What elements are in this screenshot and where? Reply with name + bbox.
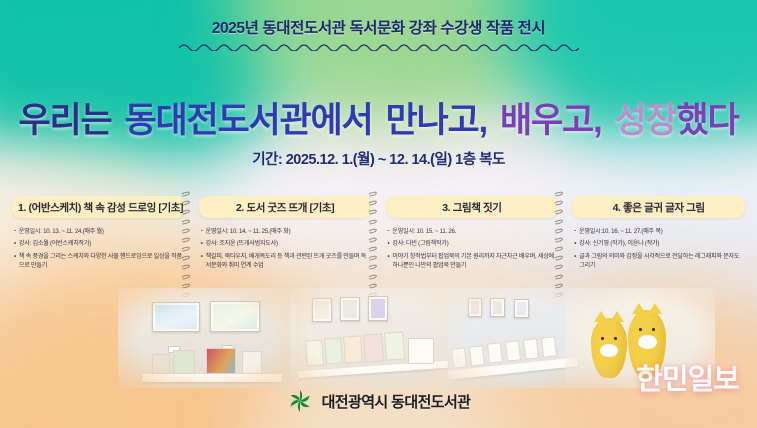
line-marker: • (14, 252, 16, 261)
course-card-title: 1. (어반스케치) 책 속 감성 드로잉 [기초] (12, 196, 185, 218)
course-card: 4. 좋은 글귀 글자 그림 - 운영일시:10. 16. ~ 11. 27.(… (568, 196, 749, 274)
line-text: 운영일시: 10. 13. ~ 11. 24.(매주 월) (19, 227, 183, 236)
line-text: 강사: 신기영 (작가), 이윤나 (작가) (579, 239, 743, 248)
course-card-list: 1. (어반스케치) 책 속 감성 드로잉 [기초] - 운영일시: 10. 1… (8, 196, 749, 274)
ribbon-title: 2025년 동대전도서관 독서문화 강좌 수강생 작품 전시 (212, 16, 546, 38)
course-detail-line: • 이야기 창작법부터 팝업북의 기본 원리까지 차근차근 배우며, 세상에 하… (388, 252, 557, 271)
wave-divider-icon (179, 41, 579, 51)
line-text: 강사: 김소월 (어반스케치작가) (19, 239, 183, 248)
headline-part-3: 만나고, (385, 101, 487, 140)
line-marker: • (201, 239, 203, 248)
line-text: 책갈피, 북타우지, 베개목도리 등 책과 관련된 뜨개 굿즈를 만들며 독서문… (206, 252, 370, 271)
line-marker: • (201, 252, 203, 261)
course-detail-line: - 운영일시: 10. 14. ~ 11. 25.(매주 화) (201, 227, 370, 236)
course-detail-line: • 강사: 다빈 (그림책작가) (388, 239, 557, 248)
exhibition-poster: 2025년 동대전도서관 독서문화 강좌 수강생 작품 전시 우리는동대전도서관… (0, 0, 757, 428)
line-marker: • (388, 239, 390, 248)
line-text: 운영일시:10. 16. ~ 11. 27.(매주 목) (579, 227, 743, 236)
line-marker: - (14, 227, 16, 236)
course-card: 1. (어반스케치) 책 속 감성 드로잉 [기초] - 운영일시: 10. 1… (8, 196, 189, 274)
headline-part-2: 동대전도서관에서 (124, 101, 372, 140)
course-detail-line: • 책갈피, 북타우지, 베개목도리 등 책과 관련된 뜨개 굿즈를 만들며 독… (201, 252, 370, 271)
headline-part-5: 성장 (615, 101, 677, 140)
headline-part-6: 했다 (677, 101, 739, 140)
line-text: 운영일시: 10. 15. ~ 11. 26. (392, 227, 556, 236)
spiral-binding-icon (554, 192, 565, 297)
course-card-body: - 운영일시: 10. 15. ~ 11. 26. • 강사: 다빈 (그림책작… (386, 227, 559, 271)
line-marker: - (574, 227, 576, 236)
course-detail-line: • 글과 그림의 의미와 감정을 시각적으로 전달하는 레그래피와 문자도 그리… (574, 252, 743, 271)
course-detail-line: - 운영일시: 10. 13. ~ 11. 24.(매주 월) (14, 227, 183, 236)
period-line: 기간: 2025.12. 1.(월) ~ 12. 14.(일) 1층 복도 (0, 148, 757, 169)
course-detail-line: • 강사: 조지윤 (뜨개사범지도사) (201, 239, 370, 248)
course-card-title: 3. 그림책 짓기 (386, 196, 559, 218)
course-card-body: - 운영일시:10. 16. ~ 11. 27.(매주 목) • 강사: 신기영… (572, 227, 745, 271)
spiral-binding-icon (368, 192, 379, 297)
course-card-title: 2. 도서 굿즈 뜨개 [기초] (199, 196, 372, 218)
line-text: 이야기 창작법부터 팝업북의 기본 원리까지 차근차근 배우며, 세상에 하나뿐… (392, 252, 556, 271)
line-marker: • (14, 239, 16, 248)
line-marker: • (574, 239, 576, 248)
photo-urban-sketch-wall (118, 288, 296, 388)
course-detail-line: • 강사: 신기영 (작가), 이윤나 (작가) (574, 239, 743, 248)
line-text: 강사: 다빈 (그림책작가) (392, 239, 556, 248)
headline-part-4: 배우고, (500, 101, 602, 140)
line-marker: • (574, 252, 576, 261)
course-detail-line: - 운영일시: 10. 15. ~ 11. 26. (388, 227, 557, 236)
line-marker: - (201, 227, 203, 236)
page-title: 우리는동대전도서관에서만나고,배우고,성장했다 (0, 92, 757, 143)
course-card-body: - 운영일시: 10. 14. ~ 11. 25.(매주 화) • 강사: 조지… (199, 227, 372, 271)
course-card-title: 4. 좋은 글귀 글자 그림 (572, 196, 745, 218)
line-text: 강사: 조지윤 (뜨개사범지도사) (206, 239, 370, 248)
course-card: 2. 도서 굿즈 뜨개 [기초] - 운영일시: 10. 14. ~ 11. 2… (195, 196, 376, 274)
header-ribbon: 2025년 동대전도서관 독서문화 강좌 수강생 작품 전시 (0, 16, 757, 51)
headline-part-1: 우리는 (18, 101, 111, 140)
course-detail-line: - 운영일시:10. 16. ~ 11. 27.(매주 목) (574, 227, 743, 236)
photo-artwork-table (290, 288, 468, 388)
line-text: 책 속 풍경을 그리는 스케치와 다양한 사물 핸드로잉으로 일상을 작품으로 … (19, 252, 183, 271)
line-marker: • (388, 252, 390, 261)
logo-text: 대전광역시 동대전도서관 (322, 391, 471, 412)
spiral-binding-icon (181, 192, 192, 297)
line-text: 글과 그림의 의미와 감정을 시각적으로 전달하는 레그래피와 문자도 그리기 (579, 252, 743, 271)
watermark: 한민일보 (636, 356, 739, 398)
course-detail-line: • 강사: 김소월 (어반스케치작가) (14, 239, 183, 248)
line-text: 운영일시: 10. 14. ~ 11. 25.(매주 화) (206, 227, 370, 236)
course-detail-line: • 책 속 풍경을 그리는 스케치와 다양한 사물 핸드로잉으로 일상을 작품으… (14, 252, 183, 271)
course-card-body: - 운영일시: 10. 13. ~ 11. 24.(매주 월) • 강사: 김소… (12, 227, 185, 271)
line-marker: - (388, 227, 390, 236)
course-card: 3. 그림책 짓기 - 운영일시: 10. 15. ~ 11. 26. • 강사… (382, 196, 563, 274)
pinwheel-flower-icon (287, 388, 313, 414)
